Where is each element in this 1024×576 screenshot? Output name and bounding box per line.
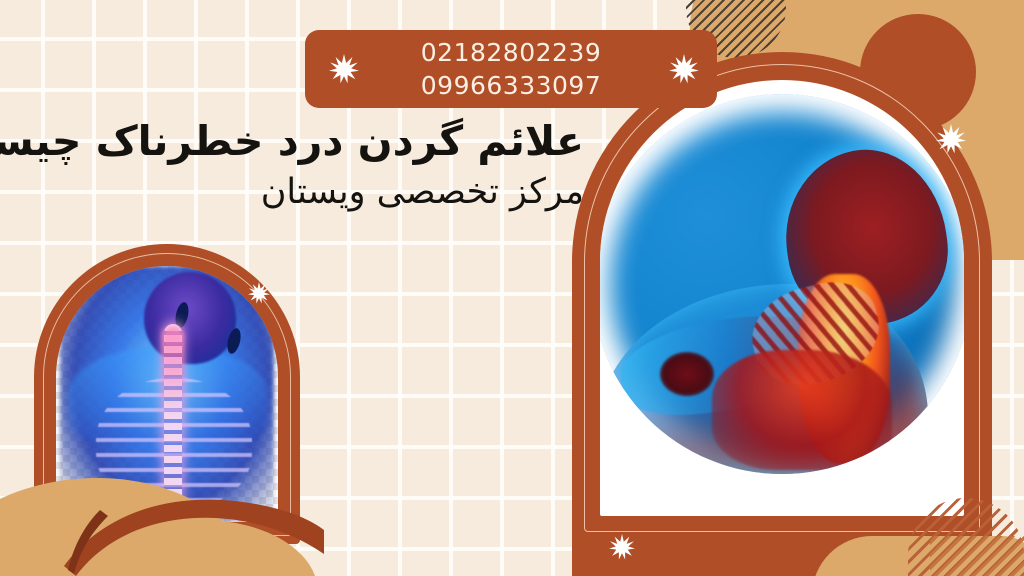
xray-head xyxy=(144,272,236,364)
starburst-icon xyxy=(248,282,270,304)
large-arch-frame xyxy=(572,52,992,542)
figure-lower-pain-area xyxy=(712,350,892,470)
large-arch-image-window xyxy=(600,80,964,516)
starburst-icon xyxy=(669,54,699,84)
figure-dark-spot xyxy=(660,352,714,396)
page-subtitle: مرکز تخصصی ویستان xyxy=(0,171,584,215)
neck-pain-photo xyxy=(600,94,964,474)
contact-phone-box[interactable]: 02182802239 09966333097 xyxy=(305,30,717,108)
headline-block: علائم گردن درد خطرناک چیست ؟ مرکز تخصصی … xyxy=(0,118,596,215)
hatched-block-bottom-right xyxy=(930,536,1024,576)
page-title: علائم گردن درد خطرناک چیست ؟ xyxy=(0,118,584,165)
starburst-icon xyxy=(936,124,966,154)
banner-canvas: 02182802239 09966333097 علائم گردن درد خ… xyxy=(0,0,1024,576)
brown-swoosh-shape xyxy=(56,470,326,576)
phone-numbers: 02182802239 09966333097 xyxy=(421,36,601,102)
phone-landline[interactable]: 02182802239 xyxy=(421,36,601,69)
starburst-icon xyxy=(329,54,359,84)
phone-mobile[interactable]: 09966333097 xyxy=(421,69,601,102)
xray-spine-highlight xyxy=(162,326,184,416)
starburst-icon xyxy=(609,534,635,560)
